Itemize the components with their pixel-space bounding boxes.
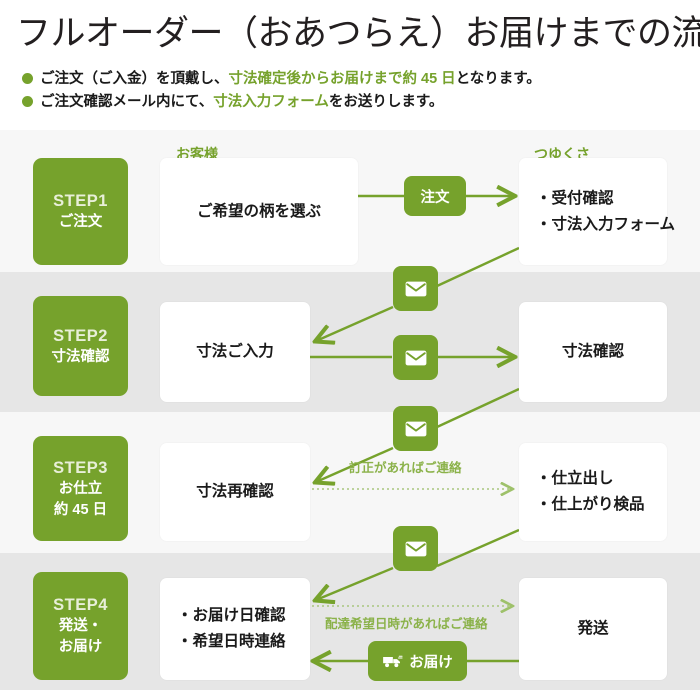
mail-icon bbox=[405, 350, 427, 366]
bullet-text-post: をお送りします。 bbox=[329, 94, 444, 110]
delivery-pill-label: お届け bbox=[409, 651, 453, 672]
mail-icon-step-2 bbox=[393, 335, 438, 380]
step-badge-3: STEP3 お仕立 約 45 日 bbox=[33, 436, 128, 541]
flowchart-diagram: フルオーダー（おあつらえ）お届けまでの流れ ご注文（ご入金）を頂戴し、寸法確定後… bbox=[0, 0, 700, 700]
shop-box-line: ・仕上がり検品 bbox=[536, 496, 645, 513]
customer-box-step-4: ・お届け日確認・希望日時連絡 bbox=[160, 578, 310, 680]
shop-box-step-1: ・受付確認・寸法入力フォーム bbox=[519, 158, 667, 265]
bullet-text-post: となります。 bbox=[456, 71, 541, 87]
shop-box-step-4: 発送 bbox=[519, 578, 667, 680]
step-label-secondary: 約 45 日 bbox=[54, 500, 107, 521]
customer-box-text: ご希望の柄を選ぶ bbox=[197, 199, 321, 225]
step-label-secondary: お届け bbox=[59, 637, 103, 658]
shop-box-text: 寸法確認 bbox=[562, 339, 624, 365]
customer-box-text: 寸法再確認 bbox=[196, 479, 274, 505]
step-number: STEP1 bbox=[53, 190, 108, 212]
shop-box-line: ・寸法入力フォーム bbox=[536, 216, 675, 233]
customer-box-line: ・お届け日確認 bbox=[177, 607, 286, 624]
shop-box-text: ・受付確認・寸法入力フォーム bbox=[519, 186, 675, 238]
shop-box-line: ・仕立出し bbox=[536, 470, 614, 487]
customer-box-step-2: 寸法ご入力 bbox=[160, 302, 310, 402]
bullet-item: ご注文（ご入金）を頂戴し、寸法確定後からお届けまで約 45 日となります。 bbox=[22, 68, 692, 91]
customer-box-text: 寸法ご入力 bbox=[196, 339, 274, 365]
bullet-text-accent: 寸法確定後からお届けまで約 45 日 bbox=[229, 71, 456, 87]
customer-box-text: ・お届け日確認・希望日時連絡 bbox=[160, 603, 286, 655]
step-number: STEP3 bbox=[53, 457, 108, 479]
step-label: お仕立 bbox=[59, 479, 103, 500]
mail-icon bbox=[405, 421, 427, 437]
shop-box-step-2: 寸法確認 bbox=[519, 302, 667, 402]
shop-box-line: ・受付確認 bbox=[536, 190, 614, 207]
mail-icon-step-3-to-4 bbox=[393, 526, 438, 571]
truck-icon bbox=[382, 654, 403, 669]
bullet-dot-icon bbox=[22, 73, 33, 84]
mail-icon bbox=[405, 281, 427, 297]
shop-box-text: ・仕立出し・仕上がり検品 bbox=[519, 466, 645, 518]
bullet-text-pre: ご注文（ご入金）を頂戴し、 bbox=[40, 71, 229, 87]
shop-box-step-3: ・仕立出し・仕上がり検品 bbox=[519, 443, 667, 541]
delivery-pill-step-4: お届け bbox=[368, 641, 467, 681]
page-title: フルオーダー（おあつらえ）お届けまでの流れ bbox=[16, 12, 688, 56]
step-number: STEP4 bbox=[53, 594, 108, 616]
mail-icon bbox=[405, 541, 427, 557]
note-step-4: 配達希望日時があればご連絡 bbox=[325, 617, 488, 632]
step-badge-4: STEP4 発送・ お届け bbox=[33, 572, 128, 680]
step-badge-1: STEP1 ご注文 bbox=[33, 158, 128, 265]
mail-icon-step-1-to-2 bbox=[393, 266, 438, 311]
mail-icon-step-2-to-3 bbox=[393, 406, 438, 451]
shop-box-text: 発送 bbox=[577, 616, 608, 642]
customer-box-line: ・希望日時連絡 bbox=[177, 633, 286, 650]
customer-box-step-3: 寸法再確認 bbox=[160, 443, 310, 541]
order-pill-label: 注文 bbox=[421, 186, 450, 207]
bullet-list: ご注文（ご入金）を頂戴し、寸法確定後からお届けまで約 45 日となります。 ご注… bbox=[22, 68, 692, 114]
bullet-item: ご注文確認メール内にて、寸法入力フォームをお送りします。 bbox=[22, 91, 692, 114]
order-pill-step-1: 注文 bbox=[404, 176, 466, 216]
step-number: STEP2 bbox=[53, 325, 108, 347]
bullet-text-accent: 寸法入力フォーム bbox=[213, 94, 329, 110]
step-label: 発送・ bbox=[59, 616, 103, 637]
step-badge-2: STEP2 寸法確認 bbox=[33, 296, 128, 396]
header: フルオーダー（おあつらえ）お届けまでの流れ ご注文（ご入金）を頂戴し、寸法確定後… bbox=[0, 0, 700, 130]
step-label: ご注文 bbox=[59, 212, 103, 233]
bullet-dot-icon bbox=[22, 96, 33, 107]
customer-box-step-1: ご希望の柄を選ぶ bbox=[160, 158, 358, 265]
bullet-text-pre: ご注文確認メール内にて、 bbox=[40, 94, 213, 110]
step-label: 寸法確認 bbox=[52, 347, 110, 368]
note-step-3: 訂正があればご連絡 bbox=[349, 461, 462, 476]
